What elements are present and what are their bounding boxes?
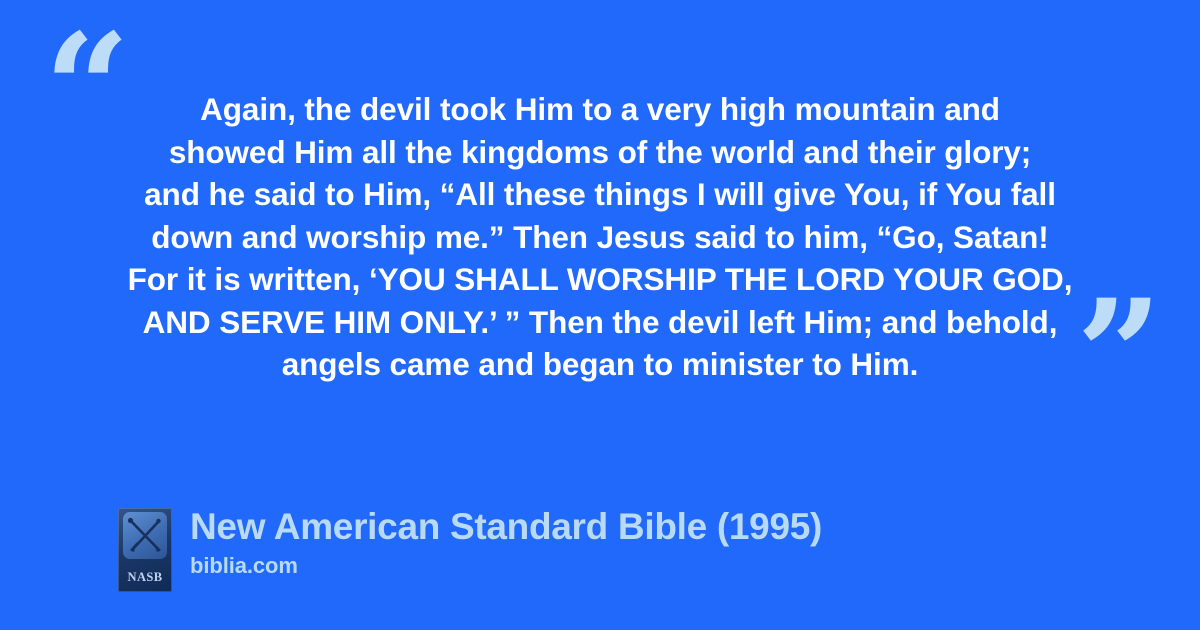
- quote-text-block: Again, the devil took Him to a very high…: [0, 88, 1200, 386]
- nasb-logo: NASB: [118, 508, 172, 592]
- attribution-text: New American Standard Bible (1995) bibli…: [190, 505, 822, 581]
- sword-emblem-icon: [123, 512, 167, 559]
- quote-line: down and worship me.” Then Jesus said to…: [105, 216, 1095, 259]
- attribution-block: NASB New American Standard Bible (1995) …: [118, 505, 822, 592]
- quote-line: showed Him all the kingdoms of the world…: [105, 131, 1095, 174]
- quote-line: and he said to Him, “All these things I …: [105, 173, 1095, 216]
- scripture-quote-card: “ ” Again, the devil took Him to a very …: [0, 0, 1200, 630]
- quote-line: angels came and began to minister to Him…: [105, 343, 1095, 386]
- bible-version-title: New American Standard Bible (1995): [190, 505, 822, 549]
- nasb-logo-label: NASB: [118, 570, 172, 585]
- quote-line: Again, the devil took Him to a very high…: [105, 88, 1095, 131]
- quote-line: For it is written, ‘YOU SHALL WORSHIP TH…: [105, 258, 1095, 301]
- source-url-label[interactable]: biblia.com: [190, 551, 822, 581]
- quote-line: AND SERVE HIM ONLY.’ ” Then the devil le…: [105, 301, 1095, 344]
